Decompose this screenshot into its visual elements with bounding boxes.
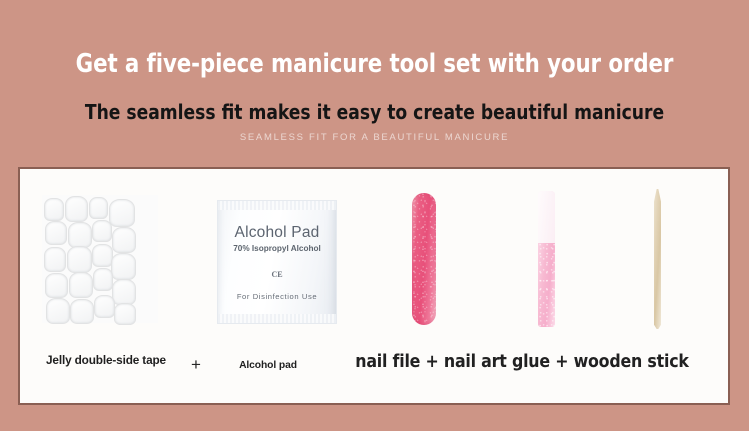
label-jelly-tape: Jelly double-side tape	[46, 353, 168, 369]
page-title: Get a five-piece manicure tool set with …	[26, 50, 723, 79]
product-image-strip: Alcohol Pad 70% Isopropyl Alcohol CE For…	[20, 169, 728, 341]
nail-file-shape	[412, 193, 436, 325]
label-remaining-tools: nail file + nail art glue + wooden stick	[320, 352, 724, 372]
nail-glue-cap	[538, 191, 555, 244]
alcohol-pad-usage-text: For Disinfection Use	[218, 292, 336, 301]
product-image-jelly-tape	[32, 169, 182, 341]
alcohol-pad-subtitle: 70% Isopropyl Alcohol	[218, 244, 336, 253]
subtitle-heading: The seamless fit makes it easy to create…	[26, 101, 723, 125]
product-showcase-panel: Alcohol Pad 70% Isopropyl Alcohol CE For…	[18, 167, 730, 405]
plus-separator-icon: +	[182, 355, 210, 375]
product-label-row: Jelly double-side tape + Alcohol pad nai…	[20, 341, 728, 403]
alcohol-pad-title: Alcohol Pad	[218, 224, 336, 242]
tagline-text: SEAMLESS FIT FOR A BEAUTIFUL MANICURE	[0, 132, 749, 143]
product-image-nail-file	[365, 169, 487, 341]
promo-banner: Get a five-piece manicure tool set with …	[0, 0, 749, 431]
label-alcohol-pad: Alcohol pad	[212, 360, 324, 371]
nail-glue-tube	[538, 191, 555, 327]
tape-sheet	[42, 195, 158, 323]
nail-glue-body	[538, 243, 555, 327]
product-image-alcohol-pad: Alcohol Pad 70% Isopropyl Alcohol CE For…	[195, 169, 355, 341]
product-image-nail-art-glue	[490, 169, 610, 341]
alcohol-pad-sachet: Alcohol Pad 70% Isopropyl Alcohol CE For…	[217, 200, 337, 324]
wooden-stick-shape	[654, 189, 661, 329]
ce-mark-icon: CE	[218, 270, 336, 279]
product-image-wooden-stick	[612, 169, 728, 341]
